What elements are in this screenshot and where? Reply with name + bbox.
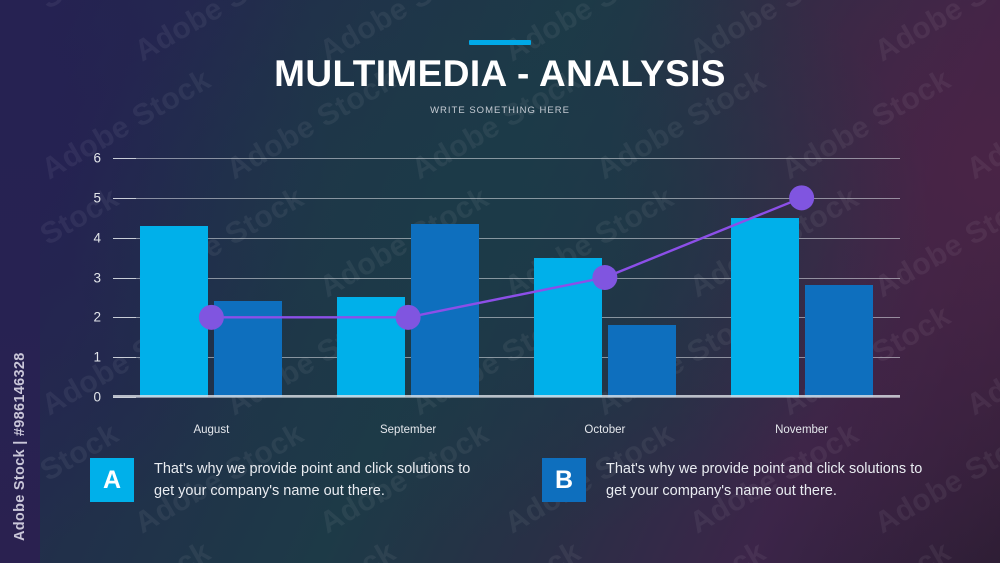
trend-line-overlay	[113, 158, 900, 397]
chart-x-axis	[113, 395, 900, 397]
y-axis-tick-mark	[113, 397, 136, 398]
legend-text-b: That's why we provide point and click so…	[606, 458, 922, 503]
y-axis-tick-label: 2	[93, 310, 101, 325]
adobe-stock-credit-bar: Adobe Stock | #986146328	[0, 0, 40, 563]
legend-badge-a: A	[90, 458, 134, 502]
legend-text-b-line2: get your company's name out there.	[606, 480, 922, 502]
trend-marker-november	[789, 185, 814, 210]
watermark-text: Adobe Stock	[406, 535, 587, 563]
trend-marker-september	[396, 305, 421, 330]
legend-text-a-line2: get your company's name out there.	[154, 480, 470, 502]
legend-text-b-line1: That's why we provide point and click so…	[606, 458, 922, 480]
slide-canvas: Adobe StockAdobe StockAdobe StockAdobe S…	[0, 0, 1000, 563]
watermark-text: Adobe Stock	[776, 535, 957, 563]
bar-chart: 0123456 AugustSeptemberOctoberNovember	[0, 140, 1000, 430]
page-title: MULTIMEDIA - ANALYSIS	[0, 53, 1000, 96]
legend-item-a[interactable]: A That's why we provide point and click …	[90, 458, 470, 503]
legend-badge-b: B	[542, 458, 586, 502]
trend-marker-october	[592, 265, 617, 290]
chart-plot-area: 0123456 AugustSeptemberOctoberNovember	[113, 158, 900, 397]
y-axis-tick-label: 4	[93, 230, 101, 245]
legend-text-a: That's why we provide point and click so…	[154, 458, 470, 503]
slide-header: MULTIMEDIA - ANALYSIS WRITE SOMETHING HE…	[0, 0, 1000, 116]
x-axis-label-september: September	[380, 424, 436, 436]
chart-legend: A That's why we provide point and click …	[0, 452, 1000, 522]
y-axis-tick-label: 5	[93, 190, 101, 205]
trend-line	[211, 198, 801, 317]
y-axis-tick-label: 0	[93, 390, 101, 405]
y-axis-tick-label: 1	[93, 350, 101, 365]
y-axis-tick-label: 6	[93, 151, 101, 166]
watermark-text: Adobe Stock	[961, 535, 1000, 563]
title-accent-bar	[469, 40, 531, 45]
legend-text-a-line1: That's why we provide point and click so…	[154, 458, 470, 480]
x-axis-label-october: October	[584, 424, 625, 436]
x-axis-label-august: August	[193, 424, 229, 436]
credit-text: Adobe Stock | #986146328	[0, 0, 40, 563]
y-axis-tick-label: 3	[93, 270, 101, 285]
watermark-text: Adobe Stock	[36, 535, 217, 563]
legend-item-b[interactable]: B That's why we provide point and click …	[542, 458, 922, 503]
gridline	[113, 397, 900, 398]
watermark-text: Adobe Stock	[221, 535, 402, 563]
watermark-text: Adobe Stock	[591, 535, 772, 563]
x-axis-label-november: November	[775, 424, 828, 436]
page-subtitle: WRITE SOMETHING HERE	[0, 105, 1000, 116]
trend-marker-august	[199, 305, 224, 330]
